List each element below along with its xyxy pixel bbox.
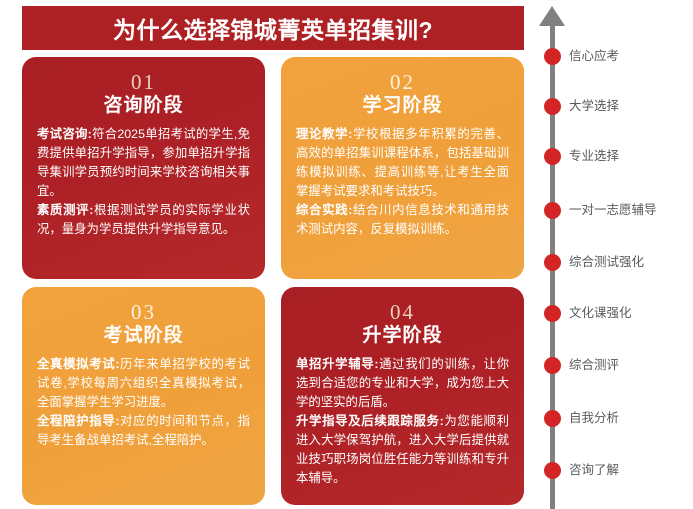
timeline-node-3[interactable]: 专业选择 [530, 146, 693, 166]
stage-paragraph: 理论教学:学校根据多年积累的完善、高效的单招集训课程体系，包括基础训练模拟训练、… [296, 125, 509, 201]
header-banner: 为什么选择锦城菁英单招集训? [22, 6, 524, 50]
stage-card-grid: 01 咨询阶段 考试咨询:符合2025单招考试的学生,免费提供单招升学指导，参加… [22, 57, 524, 505]
timeline-label: 大学选择 [569, 96, 619, 116]
stage-title: 咨询阶段 [35, 93, 252, 119]
stage-number: 02 [294, 71, 511, 93]
stage-paragraph: 素质测评:根据测试学员的实际学业状况，量身为学员提供升学指导意见。 [37, 201, 250, 239]
timeline-node-9[interactable]: 咨询了解 [530, 460, 693, 480]
timeline-label: 综合测试强化 [569, 252, 644, 272]
stage-paragraph: 单招升学辅导:通过我们的训练，让你选到合适您的专业和大学，成为您上大学的坚实的后… [296, 355, 509, 412]
timeline-dot-icon [544, 148, 561, 165]
stage-card-04[interactable]: 04 升学阶段 单招升学辅导:通过我们的训练，让你选到合适您的专业和大学，成为您… [281, 287, 524, 505]
timeline-node-1[interactable]: 信心应考 [530, 46, 693, 66]
timeline-dot-icon [544, 357, 561, 374]
paragraph-lead: 综合实践: [296, 203, 352, 217]
timeline-node-5[interactable]: 综合测试强化 [530, 252, 693, 272]
stage-paragraph: 升学指导及后续跟踪服务:为您能顺利进入大学保驾护航，进入大学后提供就业技巧职场岗… [296, 412, 509, 488]
stage-number: 01 [35, 71, 252, 93]
stage-paragraph: 考试咨询:符合2025单招考试的学生,免费提供单招升学指导，参加单招升学指导集训… [37, 125, 250, 201]
timeline-dot-icon [544, 305, 561, 322]
stage-body: 考试咨询:符合2025单招考试的学生,免费提供单招升学指导，参加单招升学指导集训… [35, 125, 252, 239]
timeline-node-8[interactable]: 自我分析 [530, 408, 693, 428]
timeline-label: 一对一志愿辅导 [569, 200, 657, 220]
stage-body: 理论教学:学校根据多年积累的完善、高效的单招集训课程体系，包括基础训练模拟训练、… [294, 125, 511, 239]
timeline-node-4[interactable]: 一对一志愿辅导 [530, 200, 693, 220]
stage-card-03[interactable]: 03 考试阶段 全真模拟考试:历年来单招学校的考试试卷,学校每周六组织全真模拟考… [22, 287, 265, 505]
paragraph-lead: 理论教学: [296, 127, 352, 141]
stage-number: 03 [35, 301, 252, 323]
timeline-node-6[interactable]: 文化课强化 [530, 303, 693, 323]
stage-paragraph: 全真模拟考试:历年来单招学校的考试试卷,学校每周六组织全真模拟考试，全面掌握学生… [37, 355, 250, 412]
paragraph-lead: 全真模拟考试: [37, 357, 119, 371]
paragraph-lead: 素质测评: [37, 203, 93, 217]
infographic-page: 为什么选择锦城菁英单招集训? 01 咨询阶段 考试咨询:符合2025单招考试的学… [0, 0, 693, 509]
stage-card-02[interactable]: 02 学习阶段 理论教学:学校根据多年积累的完善、高效的单招集训课程体系，包括基… [281, 57, 524, 279]
timeline-node-2[interactable]: 大学选择 [530, 96, 693, 116]
timeline-label: 专业选择 [569, 146, 619, 166]
timeline-dot-icon [544, 98, 561, 115]
timeline-label: 自我分析 [569, 408, 619, 428]
timeline-dot-icon [544, 202, 561, 219]
stage-title: 学习阶段 [294, 93, 511, 119]
stage-number: 04 [294, 301, 511, 323]
paragraph-lead: 全程陪护指导: [37, 414, 119, 428]
timeline-node-7[interactable]: 综合测评 [530, 355, 693, 375]
arrow-up-icon [539, 6, 565, 26]
stage-paragraph: 综合实践:结合川内信息技术和通用技术测试内容，反复模拟训练。 [296, 201, 509, 239]
timeline-dot-icon [544, 410, 561, 427]
paragraph-lead: 单招升学辅导: [296, 357, 378, 371]
stage-title: 考试阶段 [35, 323, 252, 349]
stage-body: 单招升学辅导:通过我们的训练，让你选到合适您的专业和大学，成为您上大学的坚实的后… [294, 355, 511, 488]
timeline-label: 咨询了解 [569, 460, 619, 480]
progress-timeline: 信心应考 大学选择 专业选择 一对一志愿辅导 综合测试强化 文化课强化 综合测评 [530, 0, 693, 509]
stage-body: 全真模拟考试:历年来单招学校的考试试卷,学校每周六组织全真模拟考试，全面掌握学生… [35, 355, 252, 450]
timeline-label: 综合测评 [569, 355, 619, 375]
paragraph-lead: 考试咨询: [37, 127, 92, 141]
stage-card-01[interactable]: 01 咨询阶段 考试咨询:符合2025单招考试的学生,免费提供单招升学指导，参加… [22, 57, 265, 279]
timeline-dot-icon [544, 462, 561, 479]
timeline-dot-icon [544, 48, 561, 65]
stage-title: 升学阶段 [294, 323, 511, 349]
paragraph-lead: 升学指导及后续跟踪服务: [296, 414, 444, 428]
timeline-label: 信心应考 [569, 46, 619, 66]
timeline-dot-icon [544, 254, 561, 271]
page-title: 为什么选择锦城菁英单招集训? [113, 11, 433, 45]
stage-paragraph: 全程陪护指导:对应的时间和节点，指导考生备战单招考试,全程陪护。 [37, 412, 250, 450]
timeline-label: 文化课强化 [569, 303, 632, 323]
